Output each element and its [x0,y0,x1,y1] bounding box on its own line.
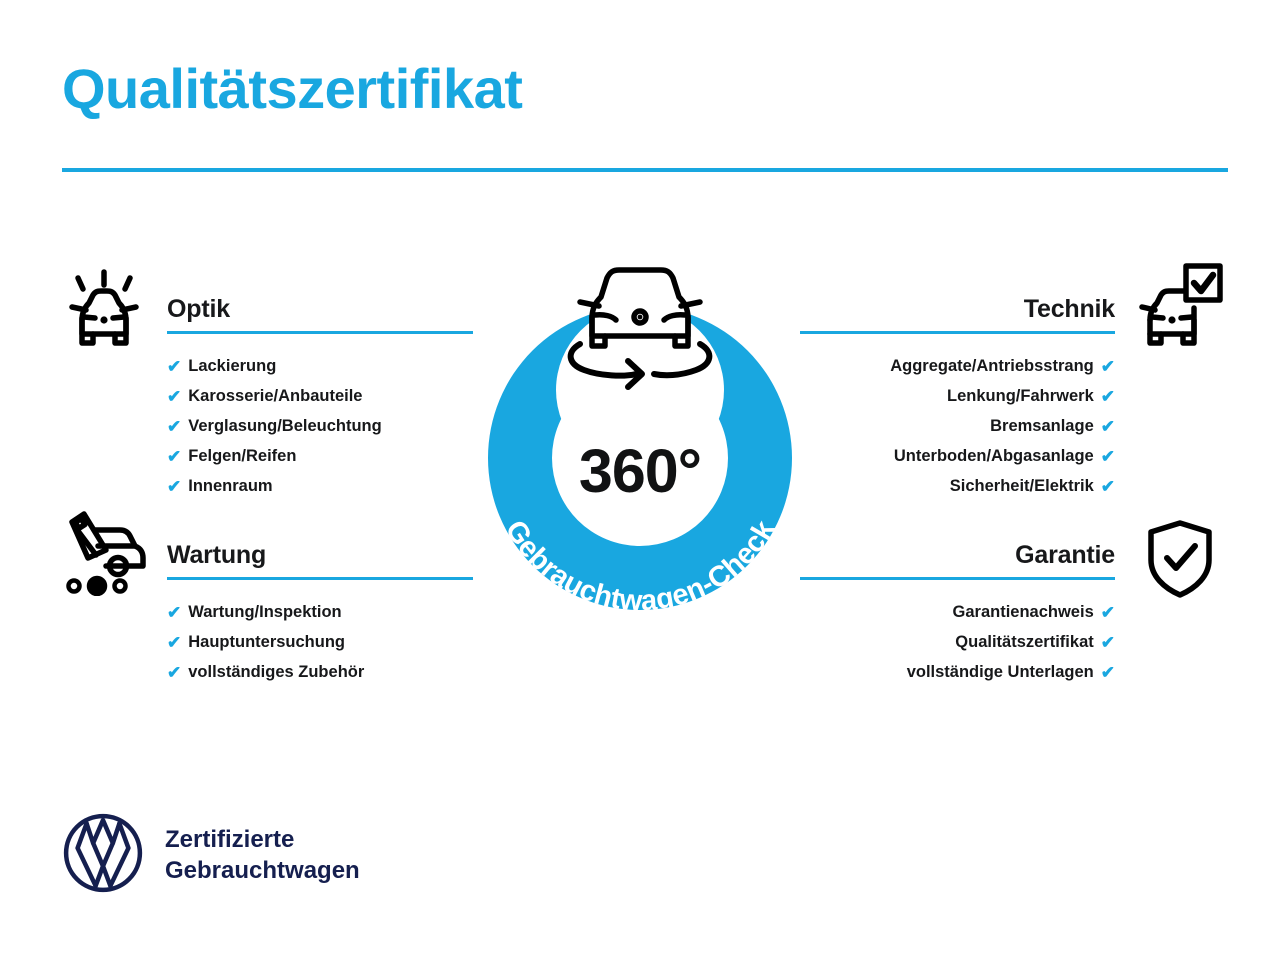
list-item-label: Sicherheit/Elektrik [950,471,1094,501]
vw-text-line2: Gebrauchtwagen [165,856,360,887]
list-item: ✔ Wartung/Inspektion [167,597,473,627]
list-item: ✔ Lackierung [167,351,473,381]
check-icon: ✔ [167,478,181,495]
check-icon: ✔ [1101,388,1115,405]
list-item-label: Wartung/Inspektion [188,597,341,627]
list-item-label: Garantienachweis [953,597,1094,627]
section-title-garantie: Garantie [800,542,1115,568]
check-icon: ✔ [167,418,181,435]
shield-check-icon [1145,518,1215,605]
check-icon: ✔ [1101,664,1115,681]
list-item: ✔ Innenraum [167,471,473,501]
list-item: Unterboden/Abgasanlage ✔ [800,441,1115,471]
check-icon: ✔ [167,358,181,375]
car-checkbox-icon [1138,258,1224,355]
list-item: Garantienachweis ✔ [800,597,1115,627]
check-icon: ✔ [167,448,181,465]
header-divider [62,168,1228,172]
list-item: vollständige Unterlagen ✔ [800,657,1115,687]
list-item: ✔ Hauptuntersuchung [167,627,473,657]
list-item: ✔ Felgen/Reifen [167,441,473,471]
list-item: ✔ Karosserie/Anbauteile [167,381,473,411]
list-item-label: Qualitätszertifikat [955,627,1093,657]
section-title-wartung: Wartung [167,542,473,568]
gebrauchtwagen-check-badge: Gebrauchtwagen-Check 360° [462,248,818,640]
car-shine-icon [60,258,148,355]
section-garantie: Garantie Garantienachweis ✔ Qualitätszer… [800,542,1115,687]
list-item: Lenkung/Fahrwerk ✔ [800,381,1115,411]
section-divider-technik [800,331,1115,334]
list-item-label: Verglasung/Beleuchtung [188,411,381,441]
check-icon: ✔ [1101,478,1115,495]
list-item: ✔ vollständiges Zubehör [167,657,473,687]
section-optik: Optik ✔ Lackierung ✔ Karosserie/Anbautei… [167,296,473,501]
list-item-label: Bremsanlage [990,411,1094,441]
vw-certified-logo-block: Zertifizierte Gebrauchtwagen [62,812,360,899]
list-item: Qualitätszertifikat ✔ [800,627,1115,657]
list-item-label: Innenraum [188,471,272,501]
check-icon: ✔ [1101,634,1115,651]
check-icon: ✔ [167,388,181,405]
list-item-label: Hauptuntersuchung [188,627,345,657]
list-item-label: vollständiges Zubehör [188,657,364,687]
list-item: Sicherheit/Elektrik ✔ [800,471,1115,501]
check-icon: ✔ [1101,358,1115,375]
list-item-label: Lenkung/Fahrwerk [947,381,1094,411]
list-item-label: Felgen/Reifen [188,441,296,471]
list-item-label: Lackierung [188,351,276,381]
section-divider-optik [167,331,473,334]
check-icon: ✔ [1101,448,1115,465]
badge-number: 360° [462,441,818,502]
section-title-optik: Optik [167,296,473,322]
section-divider-wartung [167,577,473,580]
vw-logo [62,812,144,899]
list-item: Bremsanlage ✔ [800,411,1115,441]
check-icon: ✔ [1101,604,1115,621]
list-item-label: vollständige Unterlagen [907,657,1094,687]
list-item: ✔ Verglasung/Beleuchtung [167,411,473,441]
section-wartung: Wartung ✔ Wartung/Inspektion ✔ Hauptunte… [167,542,473,687]
check-icon: ✔ [167,604,181,621]
check-icon: ✔ [167,664,181,681]
check-icon: ✔ [1101,418,1115,435]
section-technik: Technik Aggregate/Antriebsstrang ✔ Lenku… [800,296,1115,501]
vw-text-line1: Zertifizierte [165,825,360,856]
section-title-technik: Technik [800,296,1115,322]
section-list-technik: Aggregate/Antriebsstrang ✔ Lenkung/Fahrw… [800,351,1115,501]
section-list-wartung: ✔ Wartung/Inspektion ✔ Hauptuntersuchung… [167,597,473,687]
section-list-garantie: Garantienachweis ✔ Qualitätszertifikat ✔… [800,597,1115,687]
list-item: Aggregate/Antriebsstrang ✔ [800,351,1115,381]
vw-certified-text: Zertifizierte Gebrauchtwagen [165,825,360,886]
pen-car-icon [58,508,154,601]
check-icon: ✔ [167,634,181,651]
page-title: Qualitätszertifikat [62,58,522,120]
list-item-label: Aggregate/Antriebsstrang [890,351,1094,381]
section-divider-garantie [800,577,1115,580]
list-item-label: Unterboden/Abgasanlage [894,441,1094,471]
section-list-optik: ✔ Lackierung ✔ Karosserie/Anbauteile ✔ V… [167,351,473,501]
list-item-label: Karosserie/Anbauteile [188,381,362,411]
